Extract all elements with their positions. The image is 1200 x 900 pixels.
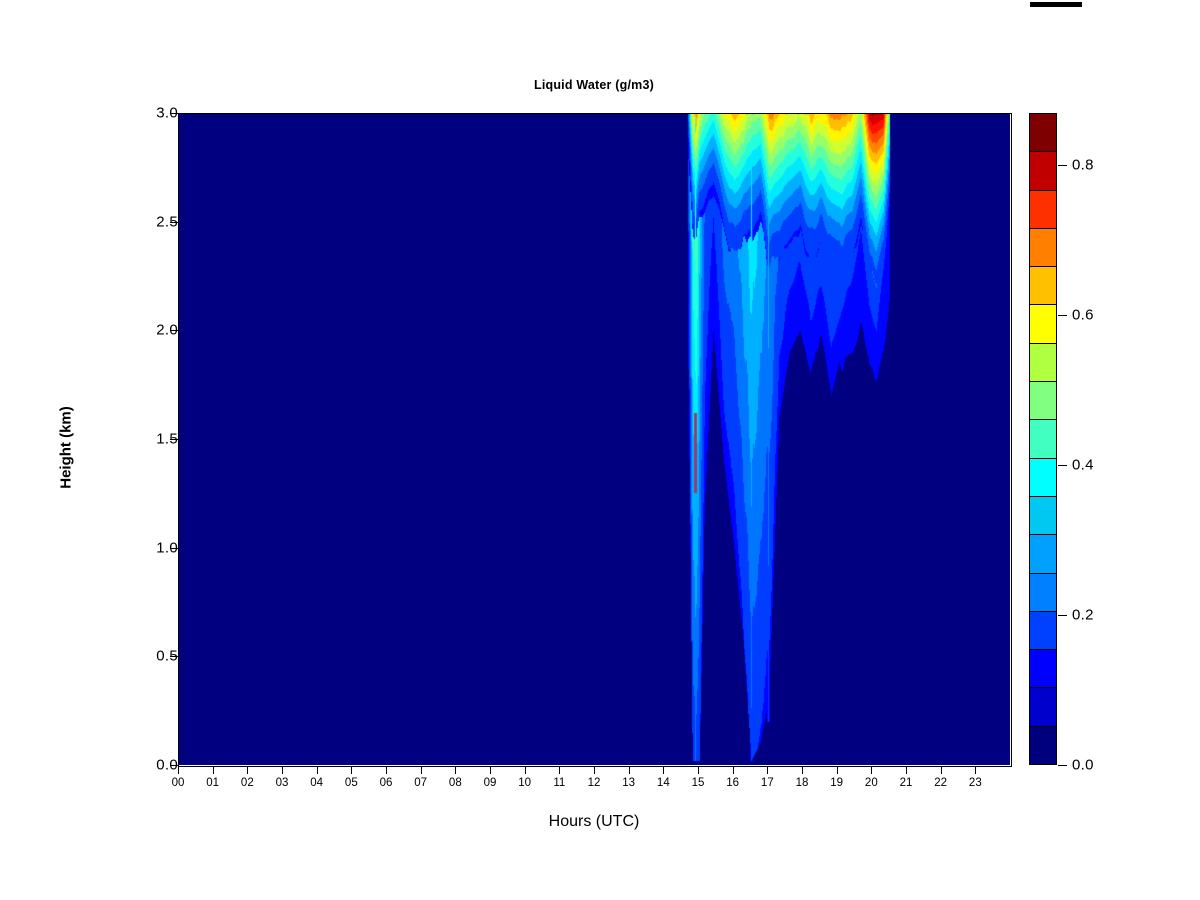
colorbar-tick-mark: [1058, 615, 1067, 616]
y-tick-label: 2.5: [118, 213, 178, 230]
colorbar: [1029, 113, 1057, 765]
x-tick-mark: [178, 766, 179, 774]
x-tick-mark: [767, 766, 768, 774]
y-tick-label: 1.5: [118, 431, 178, 448]
colorbar-tick-label: 0.8: [1072, 157, 1094, 174]
colorbar-band: [1030, 573, 1056, 611]
y-tick-label: 1.0: [118, 539, 178, 556]
y-tick-label: 2.0: [118, 322, 178, 339]
colorbar-tick-mark: [1058, 315, 1067, 316]
x-tick-mark: [802, 766, 803, 774]
x-tick-mark: [629, 766, 630, 774]
y-tick-label: 3.0: [118, 105, 178, 122]
colorbar-tick-mark: [1058, 465, 1067, 466]
y-tick-label: 0.0: [118, 757, 178, 774]
y-tick-mark: [170, 439, 178, 440]
top-edge-artifact: [1030, 2, 1082, 7]
x-tick-mark: [906, 766, 907, 774]
colorbar-band: [1030, 419, 1056, 457]
y-axis-title: Height (km): [58, 368, 75, 528]
colorbar-band: [1030, 381, 1056, 419]
figure-canvas: Liquid Water (g/m3) 0.00.51.01.52.02.53.…: [0, 0, 1200, 900]
x-tick-mark: [490, 766, 491, 774]
x-tick-mark: [837, 766, 838, 774]
x-tick-mark: [317, 766, 318, 774]
x-tick-mark: [247, 766, 248, 774]
colorbar-band: [1030, 611, 1056, 649]
colorbar-band: [1030, 114, 1056, 151]
x-tick-mark: [663, 766, 664, 774]
colorbar-tick-label: 0.4: [1072, 457, 1094, 474]
x-tick-mark: [698, 766, 699, 774]
x-tick-label: 23: [955, 777, 995, 789]
colorbar-band: [1030, 343, 1056, 381]
x-axis-title: Hours (UTC): [178, 813, 1010, 831]
colorbar-tick-mark: [1058, 165, 1067, 166]
y-tick-mark: [170, 548, 178, 549]
colorbar-band: [1030, 649, 1056, 687]
x-tick-mark: [421, 766, 422, 774]
colorbar-tick-label: 0.6: [1072, 307, 1094, 324]
colorbar-tick-label: 0.2: [1072, 607, 1094, 624]
colorbar-band: [1030, 190, 1056, 228]
colorbar-band: [1030, 687, 1056, 725]
x-tick-mark: [733, 766, 734, 774]
colorbar-band: [1030, 534, 1056, 572]
y-tick-label: 0.5: [118, 648, 178, 665]
colorbar-band: [1030, 304, 1056, 342]
y-tick-mark: [170, 222, 178, 223]
colorbar-band: [1030, 151, 1056, 189]
colorbar-band: [1030, 228, 1056, 266]
colorbar-tick-mark: [1058, 765, 1067, 766]
x-tick-mark: [525, 766, 526, 774]
y-tick-mark: [170, 113, 178, 114]
x-tick-mark: [213, 766, 214, 774]
heatmap-plot-area: [178, 113, 1010, 765]
x-tick-mark: [282, 766, 283, 774]
x-tick-mark: [351, 766, 352, 774]
y-tick-mark: [170, 656, 178, 657]
y-tick-mark: [170, 330, 178, 331]
plot-title: Liquid Water (g/m3): [178, 78, 1010, 92]
x-tick-mark: [594, 766, 595, 774]
x-tick-mark: [941, 766, 942, 774]
x-tick-mark: [455, 766, 456, 774]
colorbar-band: [1030, 458, 1056, 496]
x-tick-mark: [559, 766, 560, 774]
x-tick-mark: [871, 766, 872, 774]
colorbar-band: [1030, 266, 1056, 304]
heatmap-image: [178, 113, 1010, 765]
x-tick-mark: [386, 766, 387, 774]
colorbar-tick-label: 0.0: [1072, 757, 1094, 774]
colorbar-band: [1030, 496, 1056, 534]
y-tick-mark: [170, 765, 178, 766]
colorbar-band: [1030, 726, 1056, 764]
x-tick-mark: [975, 766, 976, 774]
